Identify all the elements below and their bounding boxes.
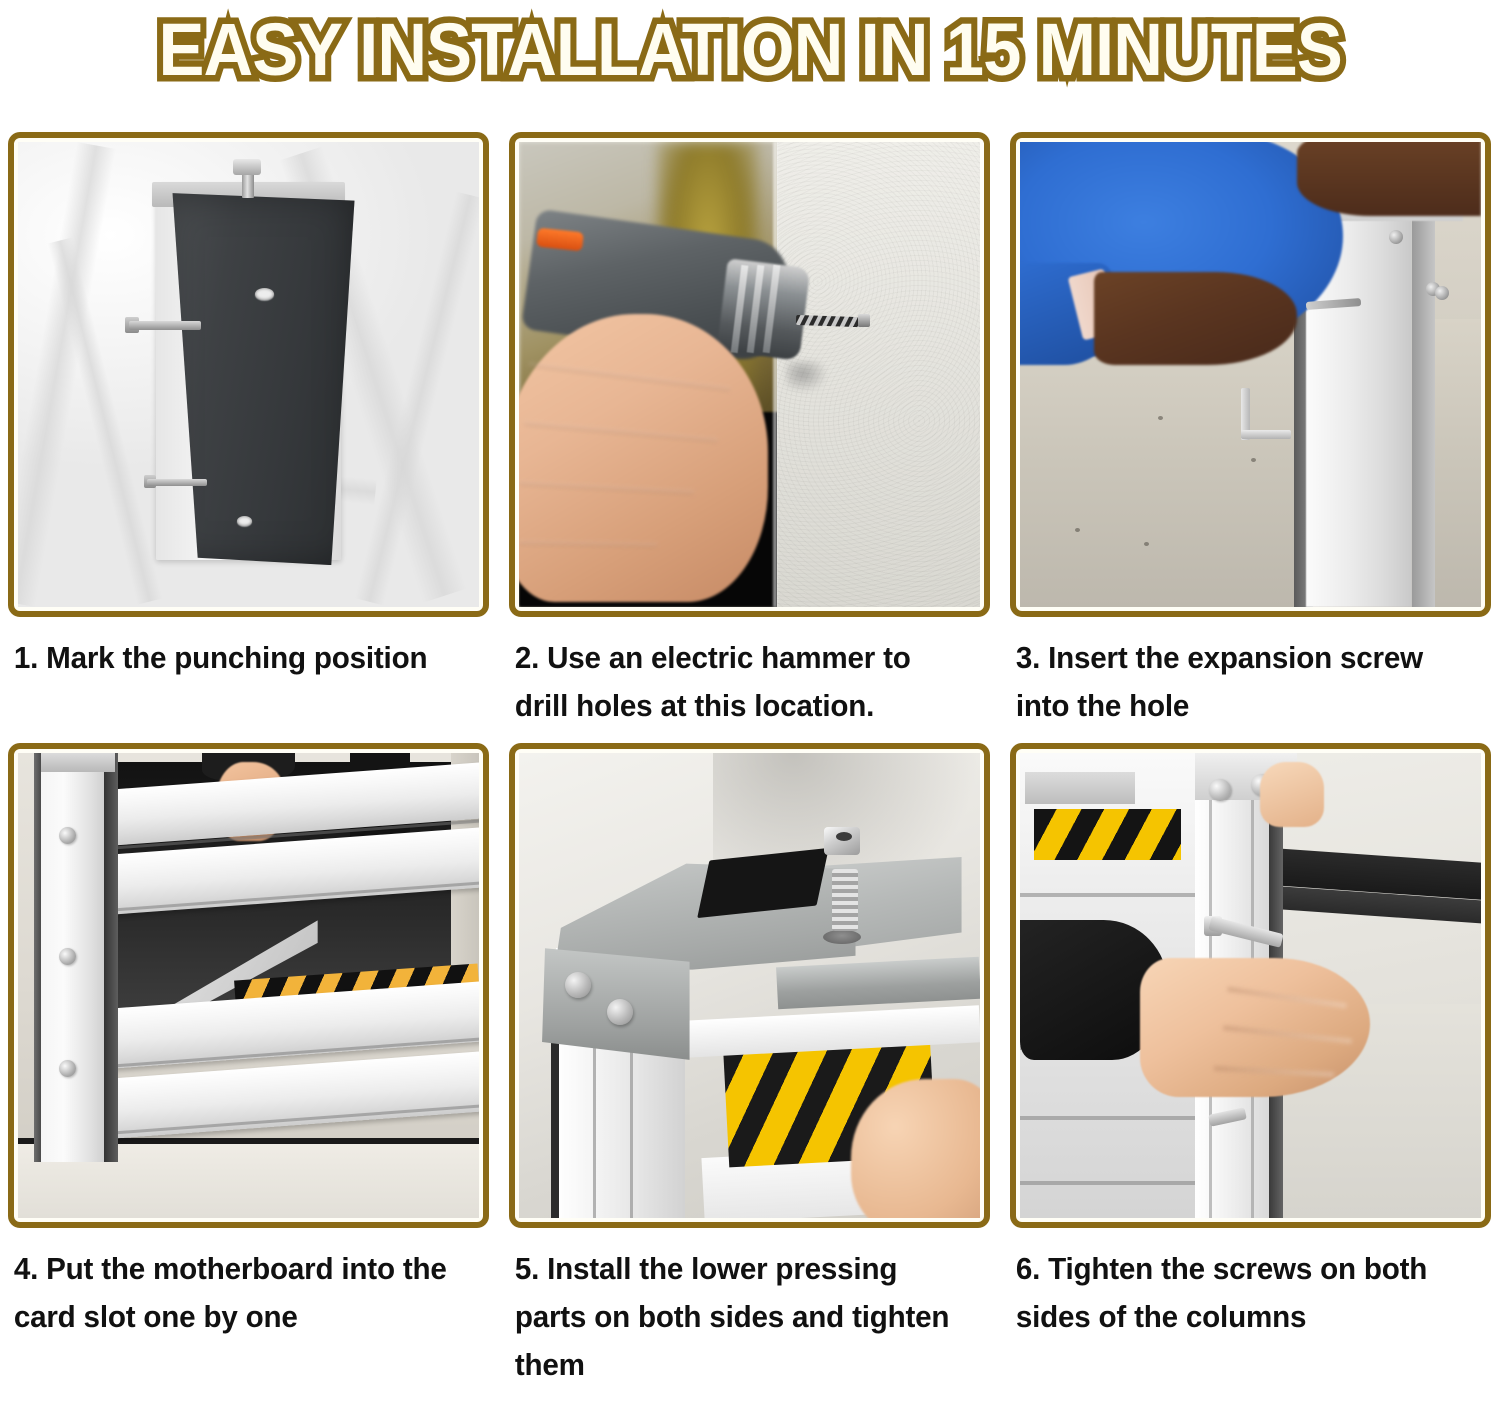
post-right-edge [104,753,119,1162]
steps-row-1: 1. Mark the punching position [8,132,1492,730]
drill-bit-tip [858,314,870,327]
board-seam [1020,1181,1204,1185]
post-top-cap [41,753,115,772]
steps-row-2: 4. Put the motherboard into the card slo… [8,743,1492,1389]
step-3-photo-frame [1010,132,1491,617]
photo-lower-pressing-parts [519,753,980,1218]
hand [1140,958,1371,1098]
board-seam [1020,1116,1204,1120]
board-seam [1020,893,1204,897]
step-5-photo-frame [509,743,990,1228]
step-2-photo-frame [509,132,990,617]
bracket-screw [607,999,633,1025]
page-title: EASY INSTALLATION IN 15 MINUTES [158,10,1341,90]
drill-dust [786,361,827,394]
step-card-6: 6. Tighten the screws on both sides of t… [1010,743,1491,1389]
photo-insert-expansion-screw [1020,142,1481,607]
bracket-screw [565,972,591,998]
step-1-caption: 1. Mark the punching position [8,617,475,682]
step-4-caption: 4. Put the motherboard into the card slo… [8,1228,475,1341]
photo-drill-holes [519,142,980,607]
step-6-photo-frame [1010,743,1491,1228]
step-card-2: 2. Use an electric hammer to drill holes… [509,132,990,730]
installation-guide-page: EASY INSTALLATION IN 15 MINUTES [0,0,1500,1403]
steps-grid: 1. Mark the punching position [8,132,1492,1389]
step-1-photo-frame [8,132,489,617]
step-2-caption: 2. Use an electric hammer to drill holes… [509,617,976,730]
wall-edge-highlight [773,142,777,607]
photo-mark-punching-position [18,142,479,607]
column-side-shadow [1412,198,1435,607]
expansion-stud [147,479,207,486]
hand [519,314,768,602]
expansion-stud [129,321,201,330]
page-title-banner: EASY INSTALLATION IN 15 MINUTES [0,0,1500,100]
step-card-4: 4. Put the motherboard into the card slo… [8,743,489,1389]
board-top-edge [1025,772,1136,805]
bolt-base [823,930,861,944]
step-4-photo-frame [8,743,489,1228]
hazard-stripe-tape [1034,809,1182,860]
photo-tighten-screws [1020,753,1481,1218]
step-5-caption: 5. Install the lower pressing parts on b… [509,1228,976,1389]
step-card-3: 3. Insert the expansion screw into the h… [1010,132,1491,730]
floor-speck [1251,458,1256,462]
upper-arm [1297,142,1481,216]
column-screw [1435,286,1449,300]
top-bolt-head [233,159,261,175]
hex-key-short-arm [1241,430,1291,439]
second-hand [1260,762,1325,827]
column-screw [1209,779,1231,801]
step-card-1: 1. Mark the punching position [8,132,489,730]
photo-insert-boards [18,753,479,1218]
step-6-caption: 6. Tighten the screws on both sides of t… [1010,1228,1477,1341]
forearm [1094,272,1297,365]
step-3-caption: 3. Insert the expansion screw into the h… [1010,617,1477,730]
threaded-bolt [832,869,858,931]
step-card-5: 5. Install the lower pressing parts on b… [509,743,990,1389]
